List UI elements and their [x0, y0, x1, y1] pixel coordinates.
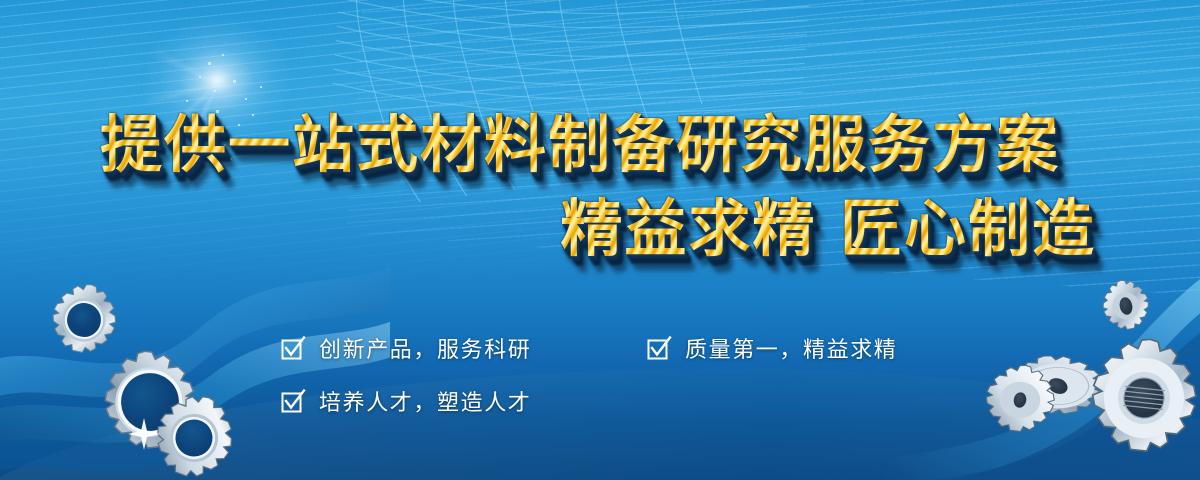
list-item: 质量第一，精益求精 [646, 332, 897, 364]
list-item-label: 创新产品，服务科研 [319, 332, 531, 364]
checkbox-check-icon [280, 335, 306, 361]
list-item: 培养人才，塑造人才 [280, 385, 646, 417]
feature-row: 创新产品，服务科研 质量第一，精益求精 [280, 332, 980, 364]
page-subtitle: 精益求精 匠心制造 [100, 196, 1100, 262]
list-item-label: 质量第一，精益求精 [685, 332, 897, 364]
checkbox-check-icon [646, 335, 672, 361]
feature-list: 创新产品，服务科研 质量第一，精益求精 培养人才，塑造人才 [280, 332, 980, 417]
feature-row: 培养人才，塑造人才 [280, 385, 980, 417]
list-item: 创新产品，服务科研 [280, 332, 646, 364]
checkbox-check-icon [280, 388, 306, 414]
list-item-label: 培养人才，塑造人才 [319, 385, 531, 417]
silver-gears-left-icon [18, 262, 268, 480]
page-title: 提供一站式材料制备研究服务方案 [100, 112, 1100, 178]
silver-gears-right-icon [976, 268, 1200, 480]
promo-banner: 提供一站式材料制备研究服务方案 精益求精 匠心制造 创新产品，服务科研 质量第一… [0, 0, 1200, 480]
headline-block: 提供一站式材料制备研究服务方案 精益求精 匠心制造 [0, 112, 1200, 261]
